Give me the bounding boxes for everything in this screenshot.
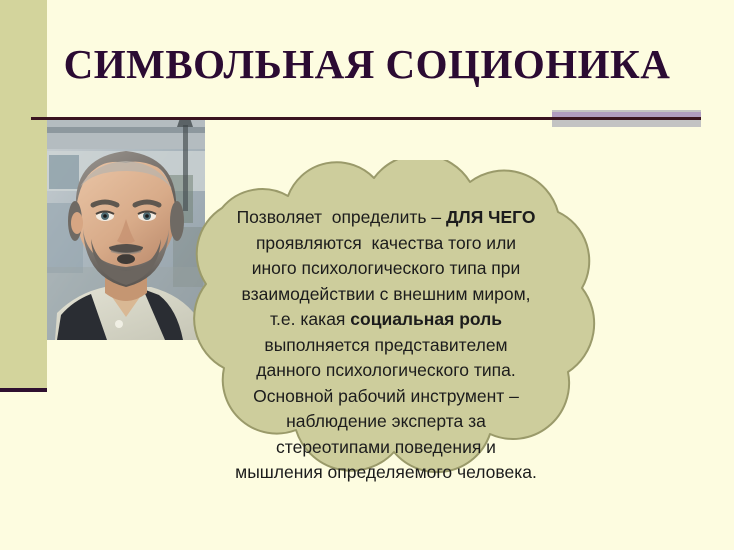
cloud-line-11: мышления определяемого человека. (210, 460, 562, 486)
cloud-line-7: данного психологического типа. (210, 358, 562, 384)
cloud-line-emphasis: ДЛЯ ЧЕГО (446, 207, 535, 227)
left-accent-band-rule (0, 388, 47, 392)
cloud-body-text: Позволяет определить – ДЛЯ ЧЕГОпроявляют… (210, 205, 562, 486)
title-divider (31, 117, 701, 120)
cloud-line-9: наблюдение эксперта за (210, 409, 562, 435)
cloud-line-1: Позволяет определить – ДЛЯ ЧЕГО (210, 205, 562, 231)
cloud-line-8: Основной рабочий инструмент – (210, 384, 562, 410)
cloud-line-emphasis: социальная роль (350, 309, 502, 329)
cloud-line-5: т.е. какая социальная роль (210, 307, 562, 333)
cloud-line-3: иного психологического типа при (210, 256, 562, 282)
presentation-slide: СИМВОЛЬНАЯ СОЦИОНИКА (0, 0, 734, 550)
cloud-line-4: взаимодействии с внешним миром, (210, 282, 562, 308)
cloud-line-10: стереотипами поведения и (210, 435, 562, 461)
page-title: СИМВОЛЬНАЯ СОЦИОНИКА (0, 40, 734, 88)
cloud-line-2: проявляются качества того или (210, 231, 562, 257)
cloud-line-6: выполняется представителем (210, 333, 562, 359)
